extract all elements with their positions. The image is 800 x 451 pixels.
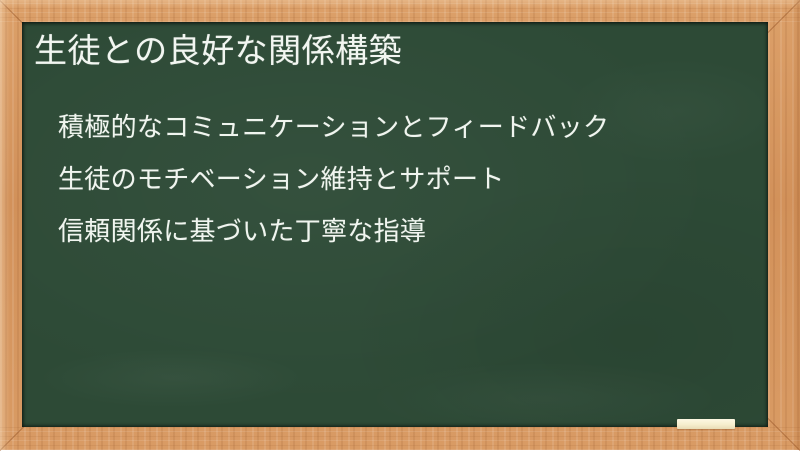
frame-bottom-ledge-grain: [0, 427, 800, 450]
bullet-item-1: 積極的なコミュニケーションとフィードバック: [58, 102, 758, 154]
chalkboard-surface: 生徒との良好な関係構築 積極的なコミュニケーションとフィードバック 生徒のモチベ…: [22, 22, 768, 427]
frame-top-rail-grain: [0, 0, 800, 22]
chalkboard-wooden-frame: 生徒との良好な関係構築 積極的なコミュニケーションとフィードバック 生徒のモチベ…: [0, 0, 800, 450]
bullet-item-2: 生徒のモチベーション維持とサポート: [58, 154, 758, 206]
bullet-item-3: 信頼関係に基づいた丁寧な指導: [58, 206, 758, 258]
slide-title: 生徒との良好な関係構築: [34, 29, 734, 73]
chalk-stick-icon: [677, 419, 735, 429]
slide-bullet-list: 積極的なコミュニケーションとフィードバック 生徒のモチベーション維持とサポート …: [58, 102, 758, 258]
